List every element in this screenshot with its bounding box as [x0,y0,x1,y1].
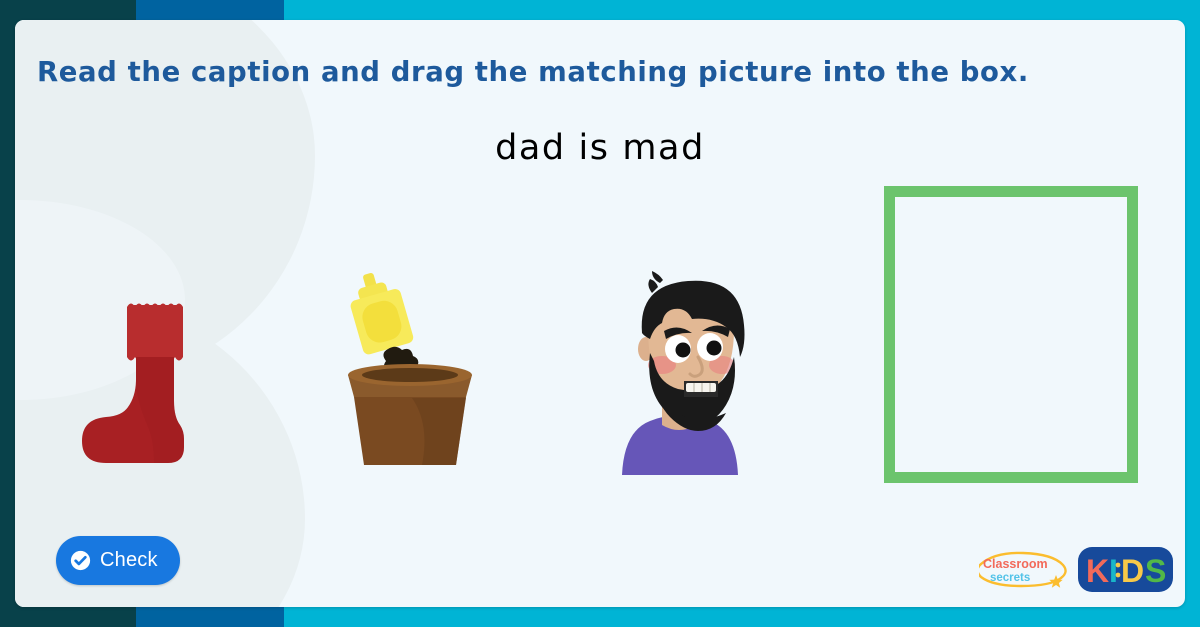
kids-letter-i: I [1109,553,1118,589]
caption-text: dad is mad [15,128,1185,168]
check-button-label: Check [100,549,158,572]
angry-man-icon [590,265,770,475]
classroom-logo-word: Classroom [983,557,1048,571]
activity-card: Read the caption and drag the matching p… [15,20,1185,607]
check-circle-icon [70,550,91,571]
mud-pot-icon [320,265,500,475]
secrets-logo-word: secrets [990,572,1030,584]
drop-target-box[interactable] [884,186,1138,483]
kids-letter-d: D [1121,553,1144,589]
draggable-picture-mud[interactable] [320,265,500,475]
sock-icon [60,265,240,475]
check-button[interactable]: Check [56,536,180,585]
instruction-text: Read the caption and drag the matching p… [37,56,1157,88]
kids-logo: K I D S [1078,547,1173,592]
classroom-secrets-logo: Classroom secrets [979,550,1071,590]
kids-letter-k: K [1086,553,1109,589]
kids-letter-s: S [1145,553,1166,589]
draggable-picture-sock[interactable] [60,265,240,475]
screenshot-root: Read the caption and drag the matching p… [0,0,1200,627]
branding-logos: Classroom secrets K I D S [979,547,1173,592]
draggable-picture-dad[interactable] [590,265,770,475]
